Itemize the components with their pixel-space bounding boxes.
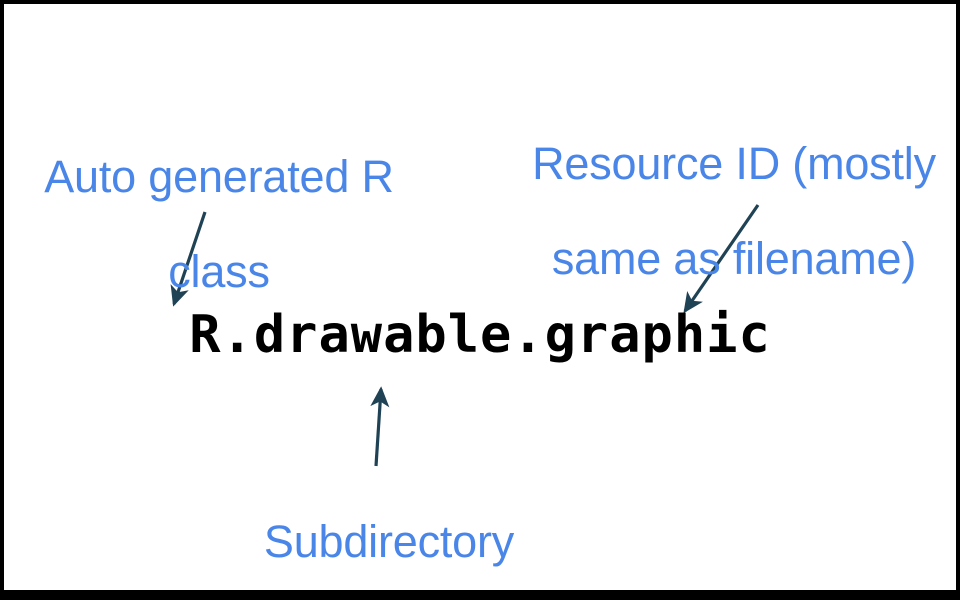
annotation-r-class-line-1: Auto generated R bbox=[30, 153, 408, 201]
diagram-surface: Auto generated R class Resource ID (most… bbox=[4, 4, 956, 590]
annotation-resource-id-line-2: same as filename) bbox=[524, 235, 944, 283]
annotation-subdirectory: Subdirectory in res folder bbox=[189, 470, 589, 590]
annotation-resource-id: Resource ID (mostly same as filename) bbox=[524, 92, 944, 330]
arrow-to-subdirectory bbox=[376, 389, 381, 466]
diagram-canvas: Auto generated R class Resource ID (most… bbox=[0, 0, 960, 600]
annotation-subdirectory-line-1: Subdirectory bbox=[189, 518, 589, 566]
code-expression: R.drawable.graphic bbox=[4, 309, 956, 361]
annotation-resource-id-line-1: Resource ID (mostly bbox=[524, 140, 944, 188]
annotation-r-class-line-2: class bbox=[30, 248, 408, 296]
